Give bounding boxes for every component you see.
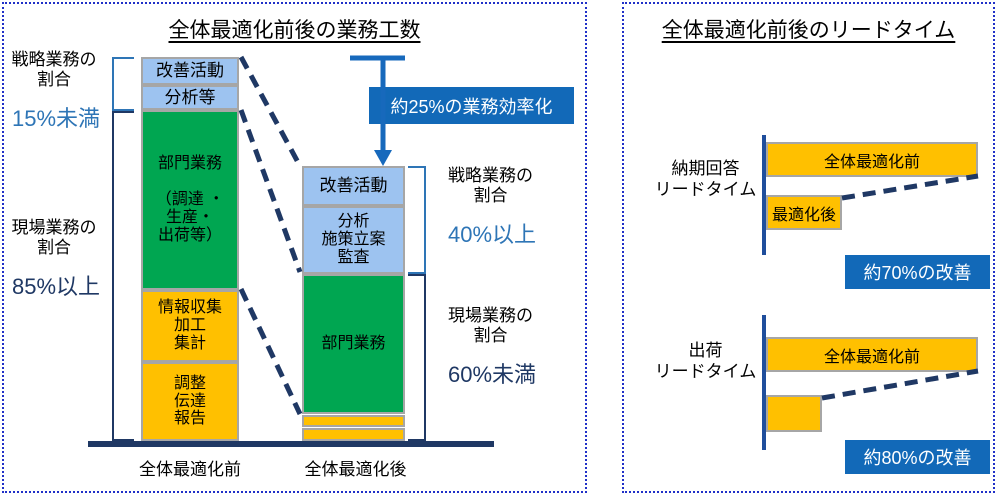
after-seg-bunseki[interactable]: 分析 施策立案 監査 [302, 206, 405, 274]
after-seg-joho[interactable] [302, 415, 405, 427]
before-strategic-label: 戦略業務の 割合 [4, 50, 104, 91]
before-field-label: 現場業務の 割合 [4, 218, 104, 259]
before-strategic-value: 15%未満 [4, 106, 108, 132]
after-seg-chosei[interactable] [302, 428, 405, 441]
panel-title-leadtime: 全体最適化前後のリードタイム [624, 14, 993, 44]
panel-title-workload: 全体最適化前後の業務工数 [4, 14, 585, 44]
after-strategic-label: 戦略業務の 割合 [428, 166, 553, 207]
after-field-label: 現場業務の 割合 [428, 306, 553, 347]
workload-baseline [88, 441, 494, 447]
before-seg-chosei[interactable]: 調整 伝達 報告 [141, 362, 239, 441]
before-seg-joho[interactable]: 情報収集 加工 集計 [141, 290, 239, 362]
leadtime-label-1: 納期回答 リードタイム [648, 158, 763, 201]
after-seg-kaizen[interactable]: 改善活動 [302, 166, 405, 206]
before-field-value: 85%以上 [4, 274, 108, 300]
before-strategic-bracket [112, 57, 134, 111]
after-field-value: 60%未満 [428, 362, 556, 388]
before-field-bracket [112, 111, 134, 441]
leadtime-label-2: 出荷 リードタイム [648, 340, 763, 383]
after-strategic-value: 40%以上 [428, 222, 556, 248]
leadtime-2-before-bar[interactable]: 全体最適化前 [766, 337, 978, 372]
after-axis-label: 全体最適化後 [283, 455, 428, 480]
efficiency-callout: 約25%の業務効率化 [369, 87, 574, 124]
before-axis-label: 全体最適化前 [120, 455, 260, 480]
leadtime-1-badge: 約70%の改善 [845, 255, 990, 289]
before-seg-kaizen[interactable]: 改善活動 [141, 57, 239, 85]
leadtime-2-badge: 約80%の改善 [845, 440, 990, 474]
after-strategic-bracket [408, 166, 426, 274]
leadtime-1-before-bar[interactable]: 全体最適化前 [766, 142, 978, 177]
before-seg-bumon[interactable]: 部門業務 （調達 ・ 生産・ 出荷等） [141, 110, 239, 290]
after-field-bracket [408, 274, 426, 441]
after-seg-bumon[interactable]: 部門業務 [302, 274, 405, 414]
before-seg-bunseki[interactable]: 分析等 [141, 85, 239, 110]
leadtime-2-after-bar[interactable] [766, 395, 822, 432]
leadtime-1-after-bar[interactable]: 最適化後 [766, 195, 842, 230]
